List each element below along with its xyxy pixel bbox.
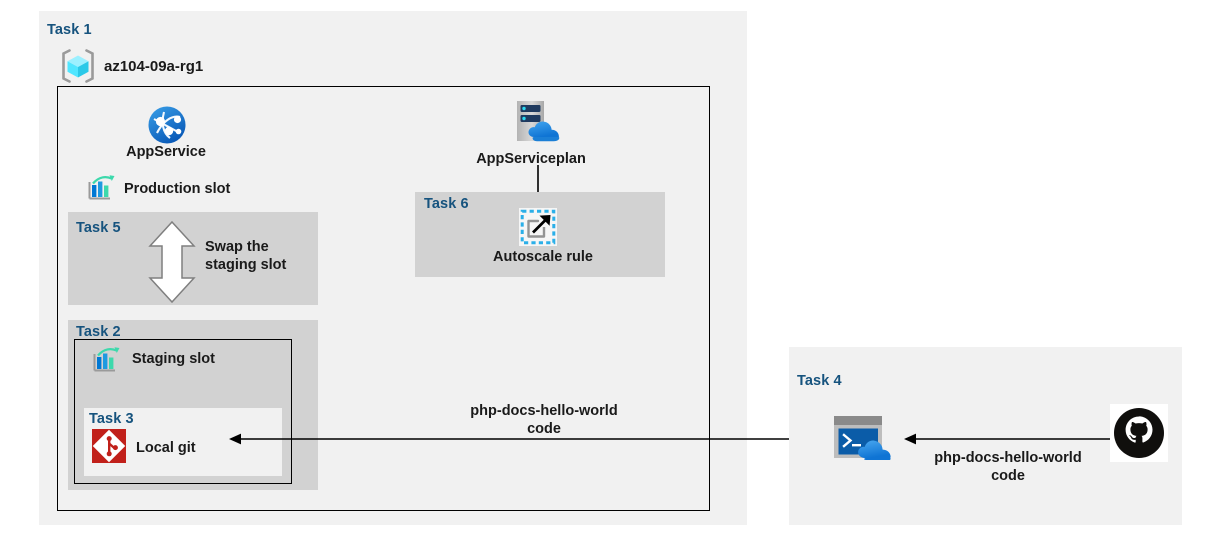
diagram-canvas: Task 1 az104-09a-rg1 [0,0,1218,545]
cloudshell-to-localgit-label-line1: php-docs-hello-world [470,402,617,420]
autoscale-rule-label: Autoscale rule [493,248,593,266]
task2-label: Task 2 [76,324,121,340]
git-logo-icon [92,429,126,463]
deployment-slot-chart-icon [92,346,122,374]
staging-slot-label: Staging slot [132,350,215,368]
app-service-globe-icon [147,105,187,145]
production-slot-label: Production slot [124,180,230,198]
task1-label: Task 1 [47,22,92,38]
resource-group-cube-icon [60,48,96,84]
deployment-slot-chart-icon [87,174,117,202]
swap-double-arrow-icon [144,220,200,304]
local-git-label: Local git [136,439,196,457]
task4-label: Task 4 [797,373,842,389]
app-service-plan-server-cloud-icon [512,99,570,147]
connector-github-to-cloudshell [900,428,1110,450]
swap-slot-label-line1: Swap the [205,238,269,256]
task5-label: Task 5 [76,220,121,236]
autoscale-expand-arrow-icon [519,208,557,246]
connector-cloudshell-to-localgit [225,428,820,450]
resource-group-name: az104-09a-rg1 [104,58,203,77]
task6-label: Task 6 [424,196,469,212]
github-octocat-icon [1110,404,1168,462]
github-to-cloudshell-label-line1: php-docs-hello-world [934,449,1081,467]
cloud-shell-terminal-icon [832,414,898,460]
swap-slot-label-line2: staging slot [205,256,286,274]
task3-label: Task 3 [89,411,134,427]
github-to-cloudshell-label-line2: code [991,467,1025,485]
app-service-label: AppService [126,143,206,161]
